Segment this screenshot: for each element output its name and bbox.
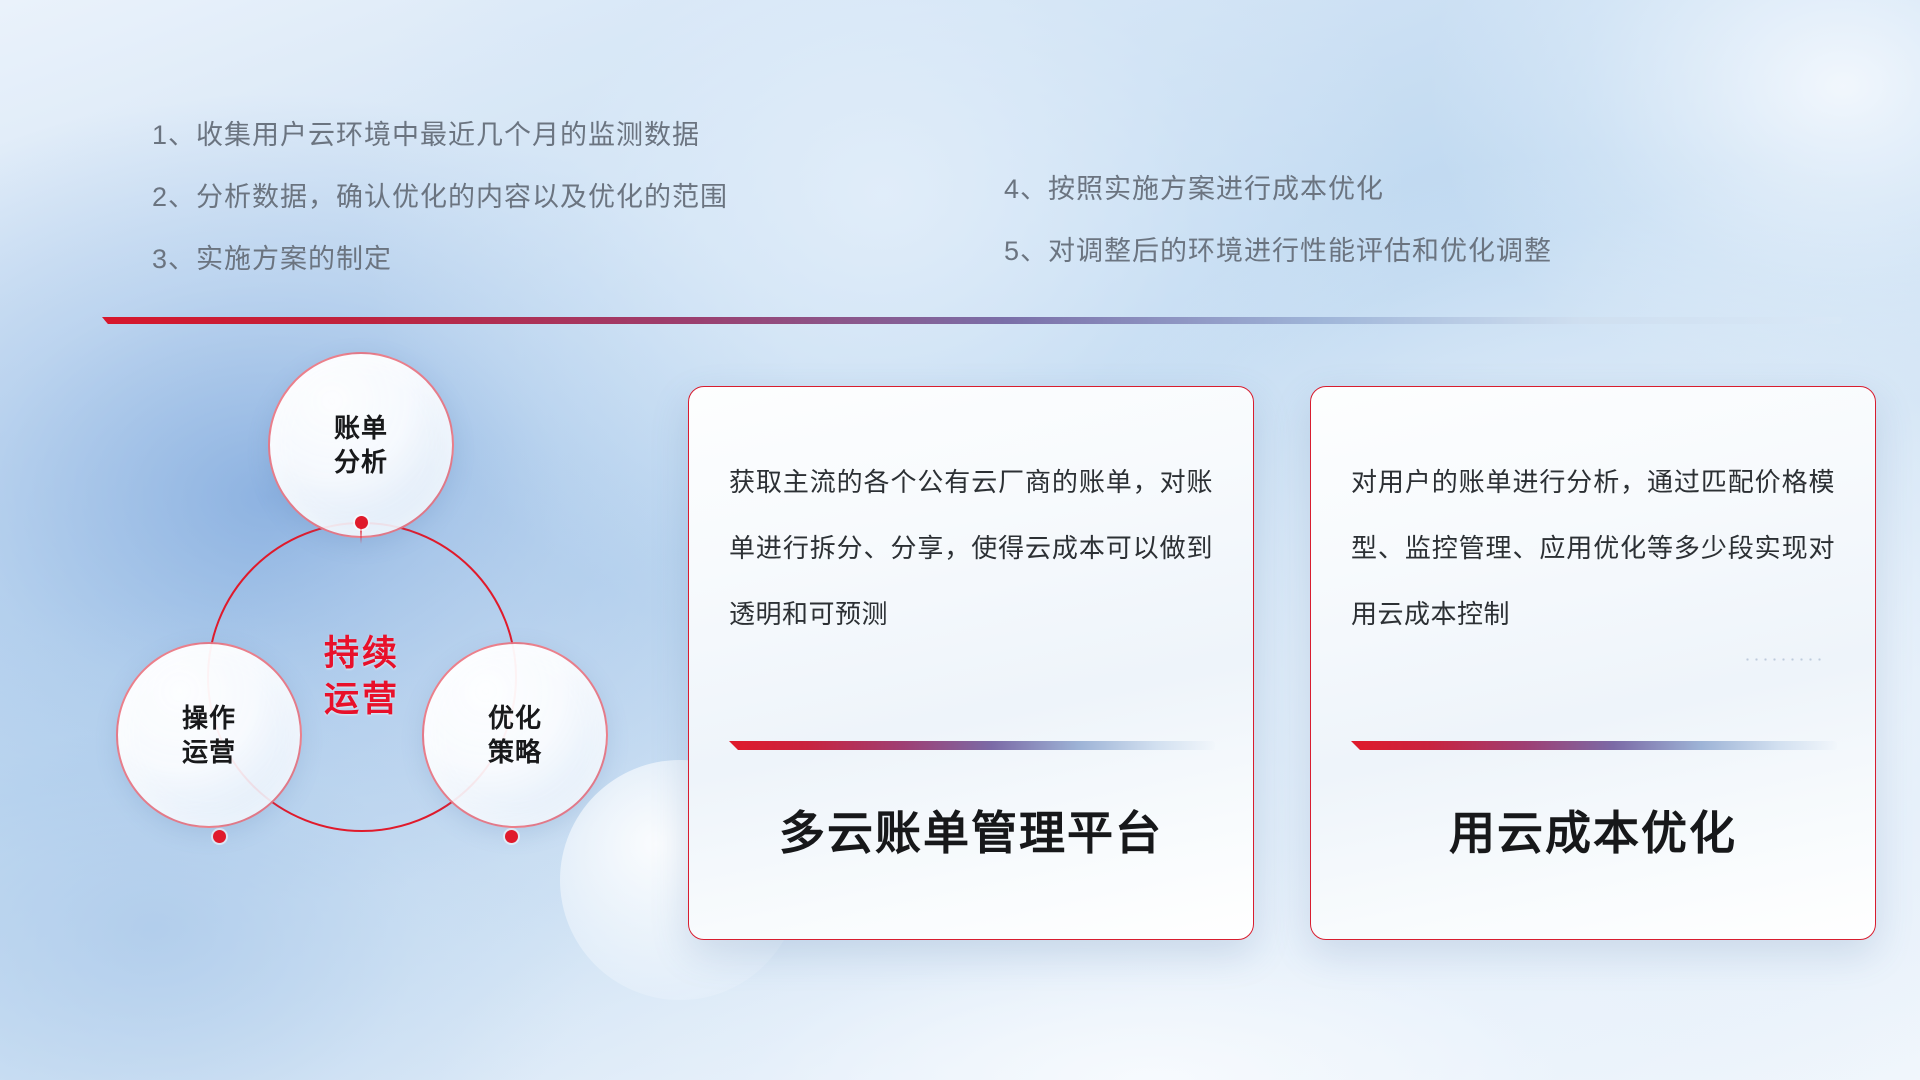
venn-bubble-1-line-2: 分析 [334, 445, 388, 479]
bullet-item-1: 1、收集用户云环境中最近几个月的监测数据 [152, 104, 728, 166]
card-2-title: 用云成本优化 [1311, 797, 1875, 863]
venn-bubble-3-line-1: 优化 [488, 701, 542, 735]
venn-bubble-1-line-1: 账单 [334, 411, 388, 445]
venn-bubble-optimization-strategy[interactable]: 优化 策略 [422, 642, 608, 828]
venn-tick-top [360, 528, 362, 544]
bullet-list-left: 1、收集用户云环境中最近几个月的监测数据 2、分析数据，确认优化的内容以及优化的… [152, 104, 728, 290]
venn-node-dot-top [355, 516, 368, 529]
venn-center-line-1: 持续 [324, 631, 400, 677]
bullet-item-3: 3、实施方案的制定 [152, 228, 728, 290]
venn-center-line-2: 运营 [324, 677, 400, 723]
venn-bubble-operations[interactable]: 操作 运营 [116, 642, 302, 828]
card-1-body: 获取主流的各个公有云厂商的账单，对账单进行拆分、分享，使得云成本可以做到透明和可… [729, 449, 1213, 647]
card-2-rule [1351, 741, 1837, 750]
venn-bubble-2-line-1: 操作 [182, 701, 236, 735]
card-1-title: 多云账单管理平台 [689, 797, 1253, 863]
section-divider [102, 317, 1842, 324]
venn-bubble-billing-analysis[interactable]: 账单 分析 [268, 352, 454, 538]
card-2-speck-decoration [1743, 655, 1821, 663]
bullet-item-4: 4、按照实施方案进行成本优化 [1004, 158, 1552, 220]
card-1-rule [729, 741, 1215, 750]
venn-bubble-2-line-2: 运营 [182, 735, 236, 769]
bullet-list-right: 4、按照实施方案进行成本优化 5、对调整后的环境进行性能评估和优化调整 [1004, 158, 1552, 282]
venn-bubble-3-line-2: 策略 [488, 735, 542, 769]
bullet-item-2: 2、分析数据，确认优化的内容以及优化的范围 [152, 166, 728, 228]
card-2-body: 对用户的账单进行分析，通过匹配价格模型、监控管理、应用优化等多少段实现对用云成本… [1351, 449, 1835, 647]
slide-root: 1、收集用户云环境中最近几个月的监测数据 2、分析数据，确认优化的内容以及优化的… [0, 0, 1920, 1080]
venn-node-dot-right [505, 830, 518, 843]
card-cloud-cost-optimization[interactable]: 对用户的账单进行分析，通过匹配价格模型、监控管理、应用优化等多少段实现对用云成本… [1310, 386, 1876, 940]
venn-node-dot-left [213, 830, 226, 843]
bullet-item-5: 5、对调整后的环境进行性能评估和优化调整 [1004, 220, 1552, 282]
card-multi-cloud-billing[interactable]: 获取主流的各个公有云厂商的账单，对账单进行拆分、分享，使得云成本可以做到透明和可… [688, 386, 1254, 940]
